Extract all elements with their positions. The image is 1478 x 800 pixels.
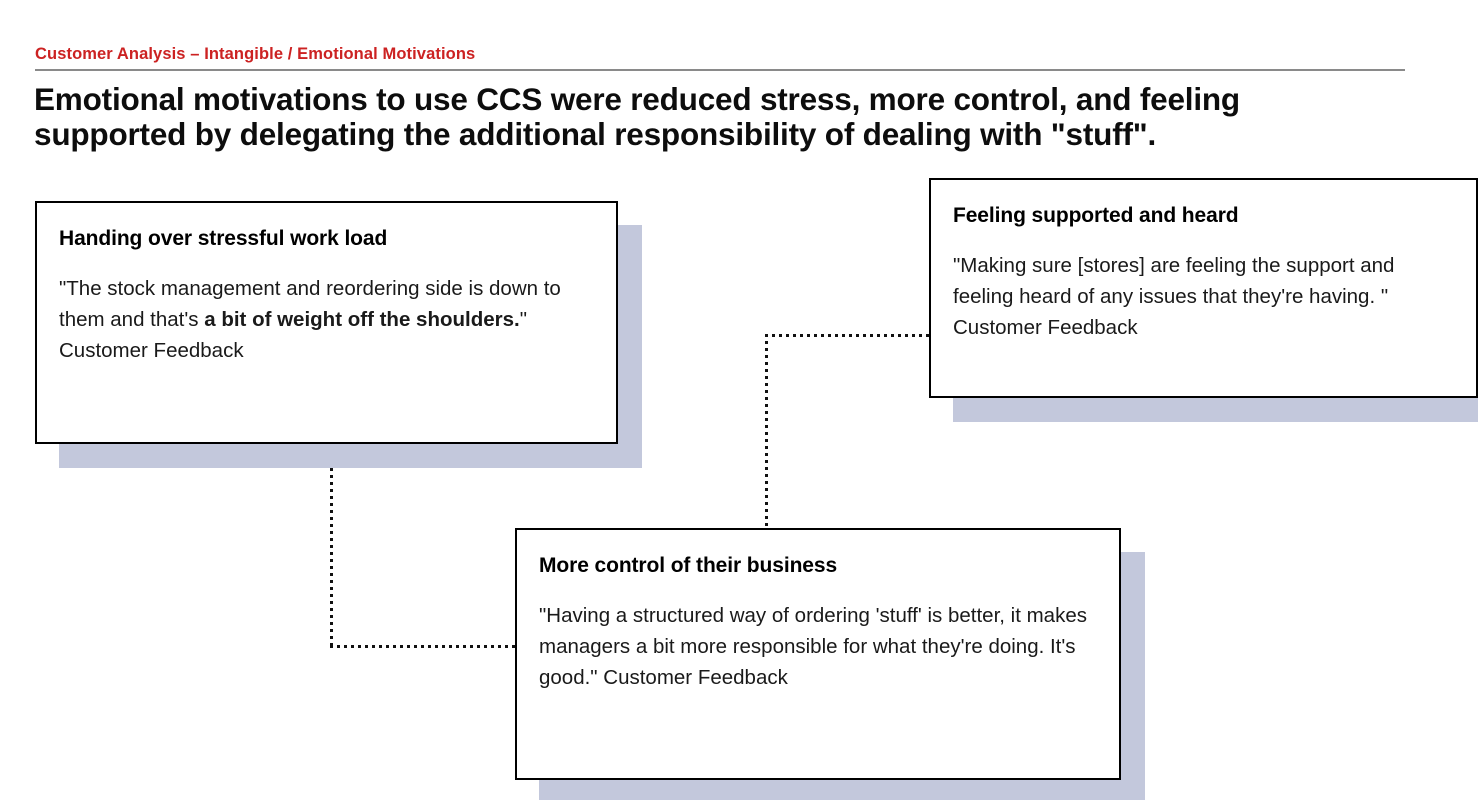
card-title: More control of their business xyxy=(539,554,1097,578)
slide-eyebrow-label: Customer Analysis – Intangible / Emotion… xyxy=(35,45,475,64)
slide-canvas: Customer Analysis – Intangible / Emotion… xyxy=(0,0,1478,800)
connector-card3-to-card2-horizontal xyxy=(765,334,933,337)
header-divider-rule xyxy=(35,69,1405,71)
card-quote-part1: "Making sure [stores] are feeling the su… xyxy=(953,254,1394,308)
headline-line-1: Emotional motivations to use CCS were re… xyxy=(34,81,1240,117)
slide-headline: Emotional motivations to use CCS were re… xyxy=(34,82,1434,152)
card-quote: "The stock management and reordering sid… xyxy=(59,273,594,335)
card-handing-over-stressful-work-load[interactable]: Handing over stressful work load "The st… xyxy=(35,201,618,444)
card-quote: "Having a structured way of ordering 'st… xyxy=(539,600,1097,693)
card-attribution: Customer Feedback xyxy=(953,312,1454,343)
card-body: More control of their business "Having a… xyxy=(517,530,1119,711)
connector-card1-to-card3-vertical xyxy=(330,468,333,648)
connector-card1-to-card3-horizontal xyxy=(330,645,518,648)
card-feeling-supported-and-heard[interactable]: Feeling supported and heard "Making sure… xyxy=(929,178,1478,398)
card-body: Handing over stressful work load "The st… xyxy=(37,203,616,384)
connector-card3-to-card2-vertical xyxy=(765,334,768,530)
card-quote: "Making sure [stores] are feeling the su… xyxy=(953,250,1454,312)
card-body: Feeling supported and heard "Making sure… xyxy=(931,180,1476,361)
card-title: Feeling supported and heard xyxy=(953,204,1454,228)
card-attribution: Customer Feedback xyxy=(59,335,594,366)
card-more-control-of-their-business[interactable]: More control of their business "Having a… xyxy=(515,528,1121,780)
card-quote-part1: "Having a structured way of ordering 'st… xyxy=(539,604,1087,689)
card-title: Handing over stressful work load xyxy=(59,227,594,251)
card-quote-emphasis: a bit of weight off the shoulders. xyxy=(204,308,519,331)
headline-line-2: supported by delegating the additional r… xyxy=(34,117,1434,152)
card-quote-part2: " xyxy=(520,308,527,331)
